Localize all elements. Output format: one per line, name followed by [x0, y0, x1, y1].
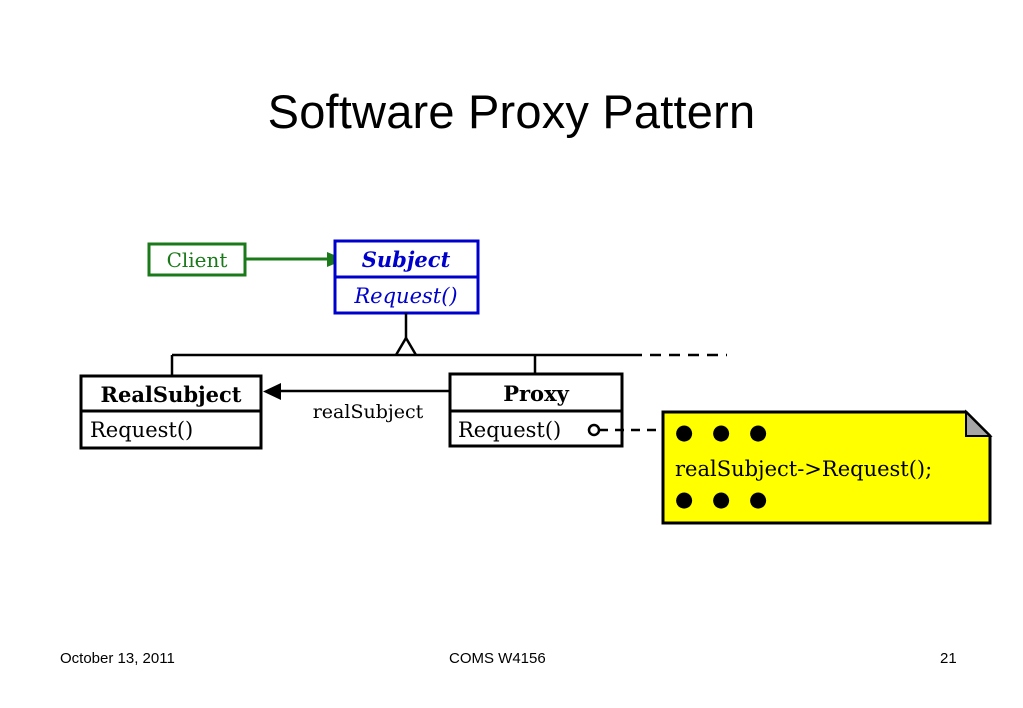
relationship-proxy-to-realsubject: realSubject — [263, 383, 450, 423]
proxy-realsubject-arrowhead-icon — [263, 383, 281, 400]
uml-note[interactable]: ● ● ● realSubject->Request(); ● ● ● — [663, 412, 990, 523]
subject-operation-request: Request() — [353, 284, 457, 308]
proxy-class-name: Proxy — [503, 381, 569, 406]
client-class-name: Client — [167, 248, 228, 272]
note-anchor-circle-icon — [589, 425, 599, 435]
relationship-generalization-tree — [172, 313, 727, 376]
realsubject-class-name: RealSubject — [101, 382, 242, 407]
realsubject-operation-request: Request() — [90, 418, 193, 442]
class-box-realsubject[interactable]: RealSubject Request() — [81, 376, 261, 448]
generalization-triangle-icon — [396, 338, 416, 355]
note-ellipsis-bottom: ● ● ● — [675, 487, 773, 511]
relationship-client-to-subject — [246, 252, 345, 267]
footer-date: October 13, 2011 — [60, 650, 175, 667]
subject-class-name: Subject — [362, 247, 451, 272]
slide: Software Proxy Pattern Client Subject Re… — [0, 0, 1023, 708]
proxy-operation-request: Request() — [458, 418, 561, 442]
footer-course: COMS W4156 — [449, 650, 546, 667]
association-label-realsubject: realSubject — [313, 401, 424, 423]
footer-page-number: 21 — [940, 650, 957, 667]
class-box-client[interactable]: Client — [149, 244, 245, 275]
uml-class-diagram: Client Subject Request() — [0, 0, 1023, 708]
note-code-line: realSubject->Request(); — [675, 457, 932, 481]
class-box-subject[interactable]: Subject Request() — [335, 241, 478, 313]
note-fold-overlay-icon — [966, 412, 990, 436]
note-ellipsis-top: ● ● ● — [675, 420, 773, 444]
